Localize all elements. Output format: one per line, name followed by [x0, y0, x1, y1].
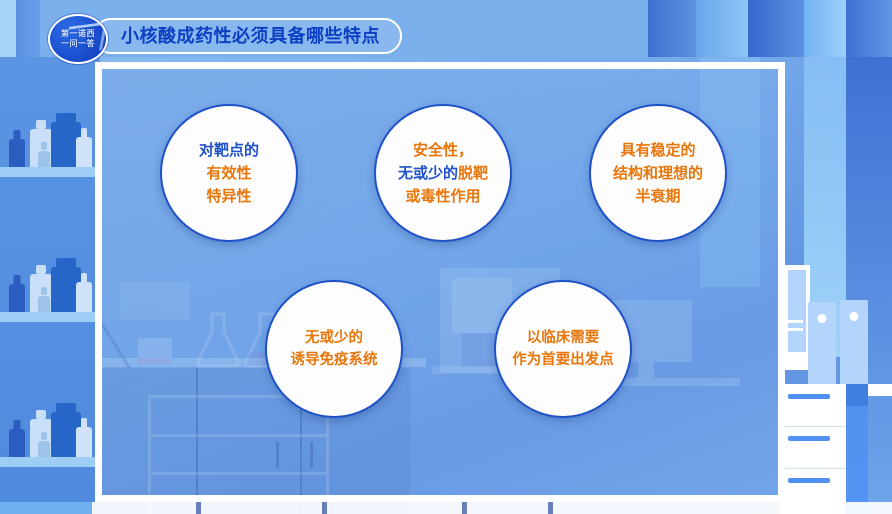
bubble-stability[interactable]: 具有稳定的 结构和理想的 半衰期: [589, 104, 727, 242]
bottle-neck: [81, 418, 87, 430]
folder-label-line: [787, 320, 803, 323]
bottle-neck: [41, 287, 47, 295]
bottle-neck: [81, 273, 87, 285]
floor-strip-accent: [0, 502, 92, 514]
bubble-safety[interactable]: 安全性， 无或少的脱靶 或毒性作用: [374, 104, 512, 242]
title-pill: 小核酸成药性必须具备哪些特点: [93, 18, 402, 54]
bubble-text: 结构和理想的: [613, 165, 703, 182]
folder-spine: [788, 270, 806, 352]
bubble-line: 或毒性作用: [405, 189, 480, 204]
bubble-text: 无或少的: [398, 165, 458, 182]
bubble-line: 以临床需要: [527, 331, 600, 346]
bubble-text: 作为首要出发点: [512, 352, 614, 368]
bubble-text: 有效性: [206, 165, 251, 182]
binder-hole: [818, 314, 827, 323]
shelf-row: [0, 177, 100, 322]
bottle-neck: [81, 128, 87, 140]
drawer-handle: [788, 394, 830, 399]
drawer-separator: [780, 426, 846, 427]
bubble-line: 诱导免疫系统: [291, 353, 378, 368]
bottle-neck: [56, 258, 76, 268]
bubble-text: 诱导免疫系统: [291, 352, 378, 368]
bubble-text: 安全性，: [413, 142, 473, 159]
bottle-neck: [36, 120, 46, 129]
bubble-immunogenicity[interactable]: 无或少的 诱导免疫系统: [265, 280, 403, 418]
page-title: 小核酸成药性必须具备哪些特点: [121, 27, 380, 45]
drawer-separator: [780, 468, 846, 469]
bottle-neck: [56, 113, 76, 123]
bubble-efficacy[interactable]: 对靶点的 有效性 特异性: [160, 104, 298, 242]
bottle-neck: [41, 432, 47, 440]
shelf-row: [0, 57, 100, 177]
drawer-top-panel: [846, 384, 868, 406]
binder-hole: [850, 312, 859, 321]
bubble-line: 具有稳定的: [620, 143, 695, 158]
header-stripe: [648, 0, 696, 57]
bubble-line: 有效性: [206, 166, 251, 181]
shelf-plank: [0, 167, 100, 177]
bottle-shelf-unit: [0, 57, 100, 514]
bubble-text: 无或少的: [305, 330, 363, 346]
shelf-plank: [0, 312, 100, 322]
bubble-line: 结构和理想的: [613, 166, 703, 181]
bubble-text: 以临床需要: [527, 330, 600, 346]
bottle-neck: [36, 410, 46, 419]
bottle-neck: [14, 275, 21, 285]
bubble-line: 安全性，: [413, 143, 473, 158]
logo-swoosh-icon: [64, 22, 108, 56]
header-stripe: [804, 0, 846, 57]
bubble-line: 作为首要出发点: [512, 353, 614, 368]
bubble-text: 具有稳定的: [620, 142, 695, 159]
bottle-neck: [14, 130, 21, 140]
ring-binder: [808, 302, 836, 386]
bubble-line: 无或少的脱靶: [398, 166, 488, 181]
bubble-clinical-need[interactable]: 以临床需要 作为首要出发点: [494, 280, 632, 418]
bubble-line: 对靶点的: [199, 143, 259, 158]
header-stripe: [748, 0, 804, 57]
bubble-line: 半衰期: [635, 189, 680, 204]
filing-drawers: [780, 384, 846, 514]
bubble-text: 半衰期: [635, 188, 680, 205]
bottle-neck: [36, 265, 46, 274]
ring-binder: [840, 300, 868, 388]
shelf-row: [0, 322, 100, 467]
header-left-strip: [0, 0, 16, 57]
bubble-text: 特异性: [206, 188, 251, 205]
shelf-plank: [0, 457, 100, 467]
logo-inner: 第一诺西 一问一答: [50, 16, 106, 62]
drawer-handle: [788, 436, 830, 441]
floor-strip: [0, 502, 892, 514]
folder-label-line: [787, 328, 803, 331]
bubble-text: 对靶点的: [199, 142, 259, 159]
drawer-side-panel: [846, 396, 868, 514]
bubble-line: 特异性: [206, 189, 251, 204]
header-stripe: [696, 0, 748, 57]
bubble-text: 脱靶: [458, 165, 488, 182]
slide-root: 小核酸成药性必须具备哪些特点 第一诺西 一问一答 对靶点的 有效性 特异性 安全…: [0, 0, 892, 514]
brand-logo-icon: 第一诺西 一问一答: [48, 14, 108, 64]
bottle-neck: [14, 420, 21, 430]
bottle-neck: [41, 142, 47, 150]
bottle-neck: [56, 403, 76, 413]
drawer-handle: [788, 478, 830, 483]
bubble-text: 或毒性作用: [405, 188, 480, 205]
bubble-line: 无或少的: [305, 331, 363, 346]
header-stripe: [846, 0, 892, 57]
